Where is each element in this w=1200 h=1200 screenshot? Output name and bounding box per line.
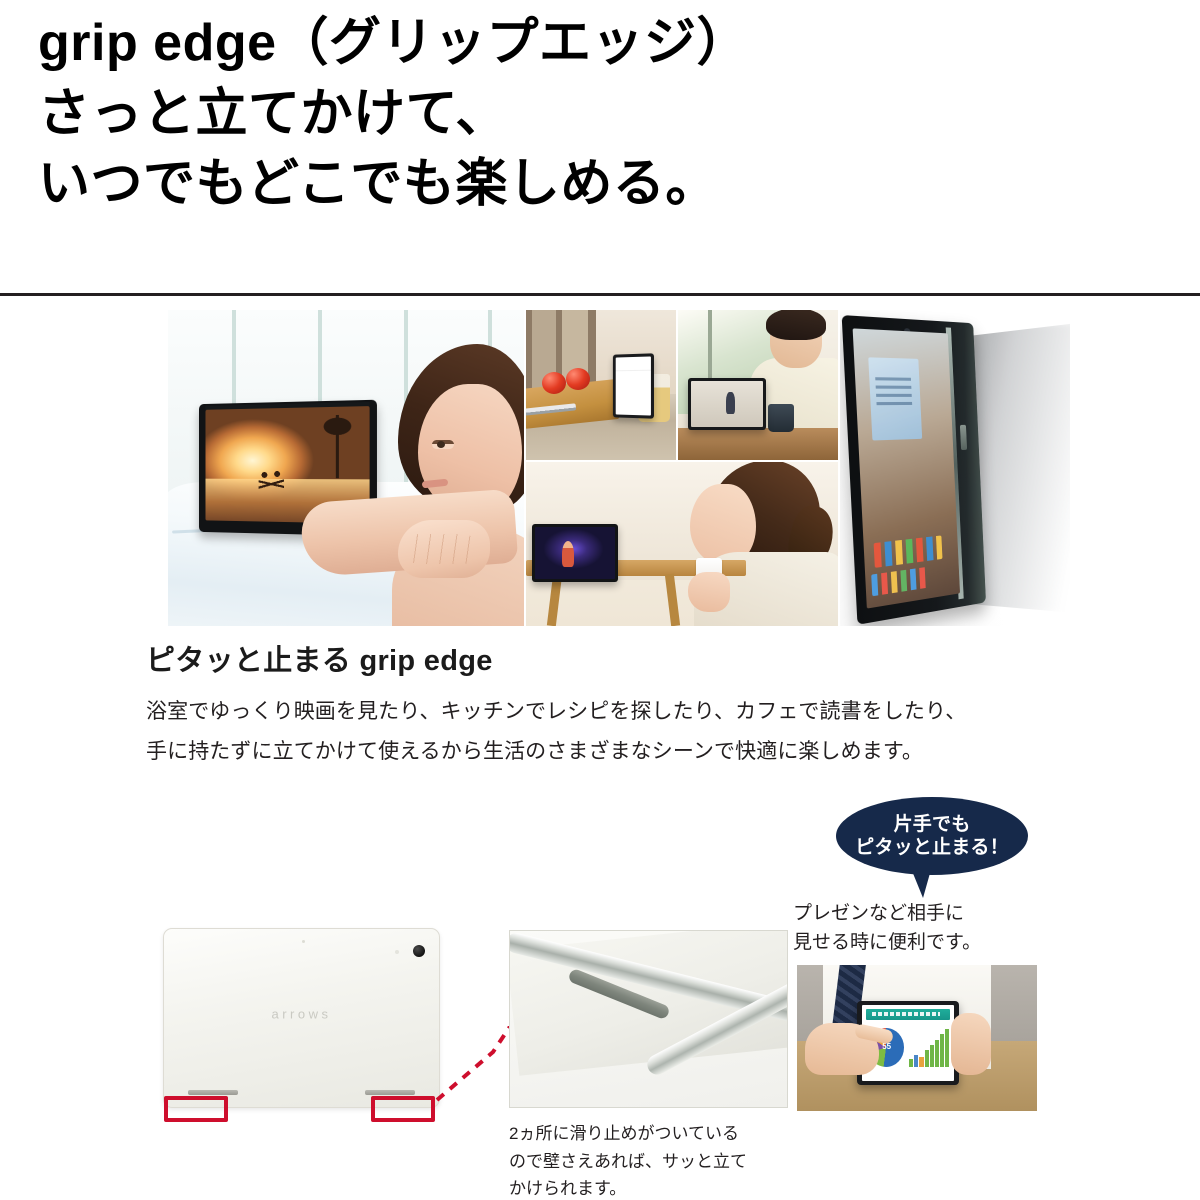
eye [432,440,454,449]
arrows-logo: arrows [271,1007,331,1022]
power-button [960,425,967,450]
tablet-home-screen [853,328,960,608]
woman-hand [688,572,730,612]
cafe-table [678,428,838,460]
tablet-device [688,378,766,430]
standing-tablet-photo [840,310,1070,626]
grip-edge-closeup-photo [509,930,788,1108]
woman-in-bath [380,344,524,626]
page-root: grip edge（グリップエッジ） さっと立てかけて、 いつでもどこでも楽しめ… [0,0,1200,1200]
callout-bubble: 片手でも ピタッと止まる！ [836,797,1028,875]
presentation-caption: プレゼンなど相手に 見せる時に便利です。 [793,900,1093,958]
tablet-screen-concert-video [535,527,615,579]
detail-caption: 2ヵ所に滑り止めがついている ので壁さえあれば、サッと立て かけられます。 [509,1120,829,1200]
callout-bubble-tail [910,866,932,898]
bar [945,1029,949,1067]
header-divider [0,293,1200,296]
app-icon-row [874,536,943,569]
slide-title-bar [866,1009,951,1020]
bar [914,1055,918,1067]
callout-line-1: 片手でも [894,813,971,836]
man-hair [766,310,826,340]
kitchen-scene-photo [526,310,676,460]
tomato [542,372,566,394]
right-hand-holding-tablet [951,1013,991,1075]
cafe-scene-photo [678,310,838,460]
headline-line-2: さっと立てかけて、 [38,79,1158,150]
bar-chart [909,1028,949,1068]
hands [398,520,490,578]
tablet-device [842,315,986,625]
coffee-mug [768,404,794,432]
flash-icon [395,950,399,954]
bathroom-scene-photo [168,310,524,626]
grip-edge-strip-right [365,1090,415,1095]
section-body: 浴室でゆっくり映画を見たり、キッチンでレシピを探したり、カフェで読書をしたり、 … [146,692,1106,773]
detail-caption-line-1: 2ヵ所に滑り止めがついている [509,1120,829,1148]
callout-line-2: ピタッと止まる！ [855,836,1009,859]
table-leg [665,574,680,626]
highlight-box-right [371,1096,435,1122]
microphone-icon [302,940,305,943]
presentation-caption-line-1: プレゼンなど相手に [793,900,1093,929]
detail-caption-line-2: ので壁さえあれば、サッと立て [509,1148,829,1176]
table-scene-photo [526,462,838,626]
tablet-back-photo: arrows [163,928,440,1108]
presentation-caption-line-2: 見せる時に便利です。 [793,929,1093,958]
tablet-device [532,524,618,582]
rear-camera-icon [413,945,425,957]
page-title: grip edge（グリップエッジ） さっと立てかけて、 いつでもどこでも楽しめ… [38,8,1158,220]
app-icon-row [871,567,927,597]
tablet-screen-recipe [616,356,651,415]
lifestyle-photo-collage [168,310,1070,626]
bar [919,1057,923,1067]
bar [930,1045,934,1067]
section-body-line-1: 浴室でゆっくり映画を見たり、キッチンでレシピを探したり、カフェで読書をしたり、 [146,692,1106,732]
bar [925,1050,929,1067]
section-title: ピタッと止まる grip edge [146,637,493,679]
home-widget [868,357,922,441]
headline-line-3: いつでもどこでも楽しめる。 [38,149,1158,220]
bar [935,1040,939,1067]
lips [422,479,449,489]
presentation-scene-photo [797,965,1037,1111]
bar [940,1034,944,1067]
palm-tree [316,415,359,479]
tablet-screen-ebook [691,381,763,427]
grip-edge-strip-left [188,1090,238,1095]
tomato [566,368,590,390]
beach-couple [259,471,284,497]
highlight-box-left [164,1096,228,1122]
section-body-line-2: 手に持たずに立てかけて使えるから生活のさまざまなシーンで快適に楽しめます。 [146,732,1106,772]
detail-caption-line-3: かけられます。 [509,1175,829,1200]
bar [909,1059,913,1068]
tablet-device [613,353,654,418]
headline-line-1: grip edge（グリップエッジ） [38,8,1158,79]
